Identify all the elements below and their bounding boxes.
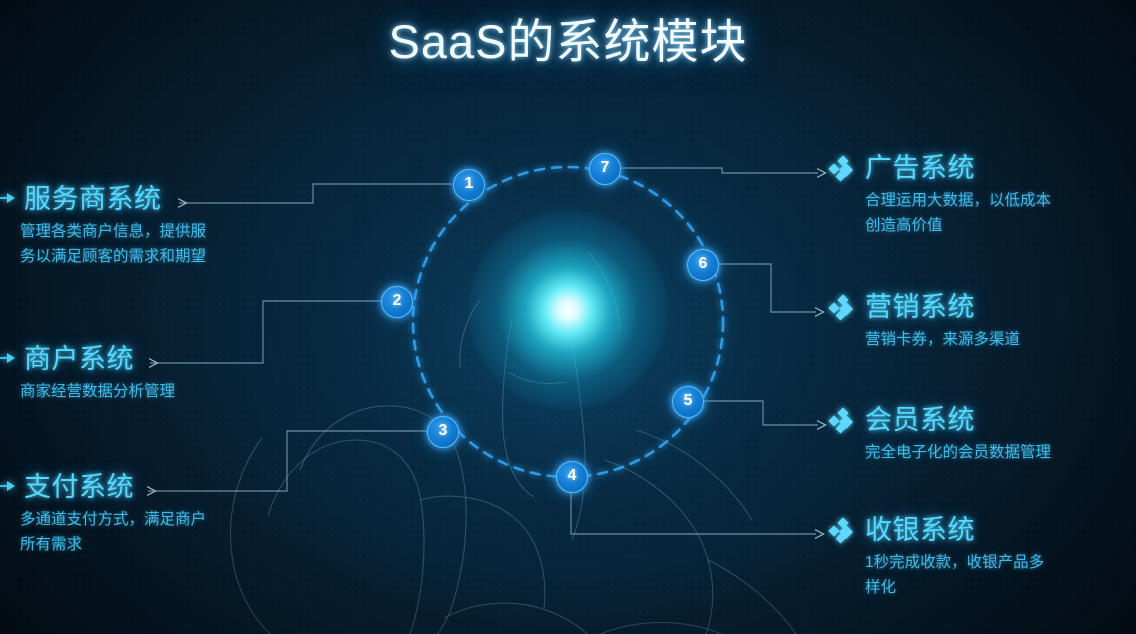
arrow-right-icon — [0, 481, 15, 495]
item-description: 1秒完成收款，收银产品多 样化 — [865, 550, 1044, 600]
node-label: 5 — [684, 392, 693, 409]
item-description: 完全电子化的会员数据管理 — [865, 440, 1051, 465]
item-description: 管理各类商户信息，提供服 务以满足顾客的需求和期望 — [20, 219, 206, 269]
node-label: 3 — [439, 422, 448, 439]
description-line: 管理各类商户信息，提供服 — [20, 219, 206, 244]
connector-node-5 — [702, 401, 818, 425]
connector-node-7 — [619, 168, 818, 173]
node-2[interactable]: 2 — [381, 286, 413, 318]
item-title: 收银系统 — [865, 515, 975, 546]
item-title: 商户系统 — [24, 344, 134, 375]
node-label: 1 — [465, 175, 474, 192]
item-cashier-system[interactable]: 收银系统 1秒完成收款，收银产品多 样化 — [830, 515, 1044, 600]
slide-canvas: SaaS的系统模块 — [0, 0, 1136, 634]
node-1[interactable]: 1 — [453, 169, 485, 201]
item-description: 商家经营数据分析管理 — [20, 379, 175, 404]
connector-node-2 — [150, 301, 381, 363]
item-description: 营销卡券，来源多渠道 — [865, 327, 1020, 352]
arrow-right-icon — [0, 353, 15, 367]
diamond-cluster-icon — [830, 409, 856, 433]
item-header: 服务商系统 — [6, 184, 206, 215]
node-6[interactable]: 6 — [687, 249, 719, 281]
item-title: 营销系统 — [865, 292, 975, 323]
node-7[interactable]: 7 — [589, 153, 621, 185]
description-line: 样化 — [865, 575, 1044, 600]
node-5[interactable]: 5 — [672, 386, 704, 418]
item-membership-system[interactable]: 会员系统 完全电子化的会员数据管理 — [830, 405, 1051, 465]
description-line: 合理运用大数据，以低成本 — [865, 188, 1051, 213]
connector-node-1 — [179, 184, 452, 203]
diamond-cluster-icon — [830, 157, 856, 181]
item-service-provider-system[interactable]: 服务商系统 管理各类商户信息，提供服 务以满足顾客的需求和期望 — [6, 184, 206, 269]
item-advertising-system[interactable]: 广告系统 合理运用大数据，以低成本 创造高价值 — [830, 153, 1051, 238]
item-header: 收银系统 — [830, 515, 1044, 546]
description-line: 务以满足顾客的需求和期望 — [20, 244, 206, 269]
diamond-cluster-icon — [830, 296, 856, 320]
node-label: 4 — [568, 467, 577, 484]
item-description: 合理运用大数据，以低成本 创造高价值 — [865, 188, 1051, 238]
item-title: 服务商系统 — [24, 184, 162, 215]
node-label: 2 — [393, 292, 402, 309]
item-header: 商户系统 — [6, 344, 175, 375]
item-header: 支付系统 — [6, 472, 206, 503]
description-line: 商家经营数据分析管理 — [20, 379, 175, 404]
node-3[interactable]: 3 — [427, 416, 459, 448]
item-title: 广告系统 — [865, 153, 975, 184]
item-header: 营销系统 — [830, 292, 1020, 323]
item-merchant-system[interactable]: 商户系统 商家经营数据分析管理 — [6, 344, 175, 404]
description-line: 所有需求 — [20, 532, 206, 557]
connector-node-6 — [717, 264, 816, 312]
description-line: 创造高价值 — [865, 213, 1051, 238]
diamond-cluster-icon — [830, 519, 856, 543]
item-payment-system[interactable]: 支付系统 多通道支付方式，满足商户 所有需求 — [6, 472, 206, 557]
node-4[interactable]: 4 — [556, 461, 588, 493]
item-header: 广告系统 — [830, 153, 1051, 184]
description-line: 营销卡券，来源多渠道 — [865, 327, 1020, 352]
description-line: 1秒完成收款，收银产品多 — [865, 550, 1044, 575]
item-title: 会员系统 — [865, 405, 975, 436]
orbit-ring — [413, 167, 723, 477]
node-label: 7 — [601, 159, 610, 176]
description-line: 多通道支付方式，满足商户 — [20, 507, 206, 532]
item-marketing-system[interactable]: 营销系统 营销卡券，来源多渠道 — [830, 292, 1020, 352]
arrow-right-icon — [0, 193, 15, 207]
node-label: 6 — [699, 255, 708, 272]
item-description: 多通道支付方式，满足商户 所有需求 — [20, 507, 206, 557]
connector-node-4 — [571, 491, 816, 534]
item-title: 支付系统 — [24, 472, 134, 503]
description-line: 完全电子化的会员数据管理 — [865, 440, 1051, 465]
item-header: 会员系统 — [830, 405, 1051, 436]
